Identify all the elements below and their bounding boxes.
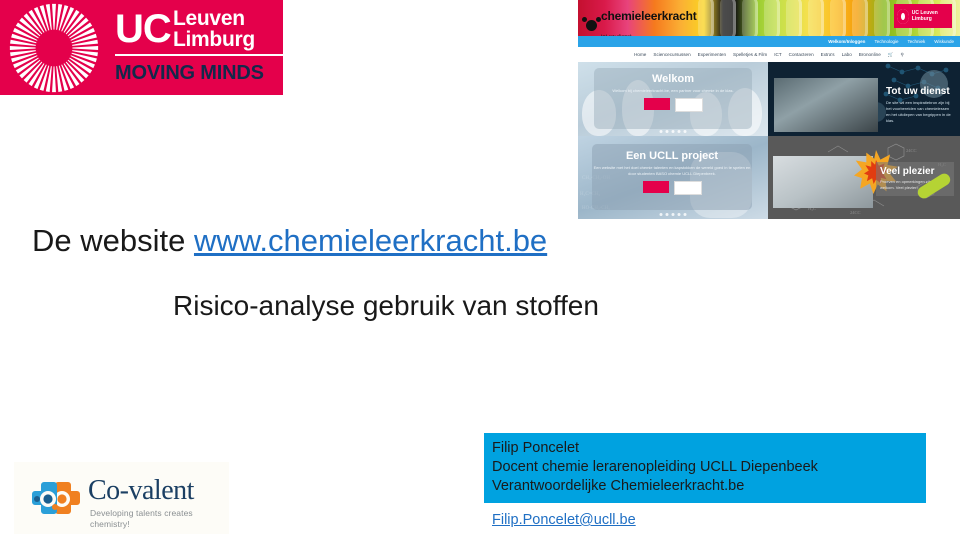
website-line: De website www.chemieleerkracht.be	[32, 221, 547, 261]
covalent-logo: Co-valent Developing talents creates che…	[14, 462, 229, 534]
ucll-line-leuven: Leuven	[173, 8, 255, 29]
ucll-mini-logo	[643, 181, 669, 193]
ucll-line-limburg: Limburg	[173, 29, 255, 50]
nav-item-sciencecursussen[interactable]: Sciencecursussen	[653, 51, 690, 59]
panel-project-title: Een UCLL project	[626, 150, 718, 162]
contact-role: Docent chemie lerarenopleiding UCLL Diep…	[492, 458, 918, 477]
panel-project-body: Een website met het doel chemie talenten…	[592, 165, 752, 177]
site-banner: chemieleerkracht tot uw dienst UC Leuven…	[578, 0, 960, 36]
ucll-tagline: MOVING MINDS	[115, 62, 264, 85]
partner-mini-logo	[674, 181, 702, 195]
nav-item-ict[interactable]: ICT	[774, 51, 781, 59]
site-panel-welkom: Welkom Welkom bij chemieleerkracht.be, e…	[578, 62, 768, 136]
chemieleerkracht-link[interactable]: www.chemieleerkracht.be	[194, 223, 547, 258]
panel-plezier-title: Veel plezier	[880, 166, 934, 177]
site-utility-links: Welkom/Inloggen Technologie Techniek Wis…	[828, 38, 954, 45]
panel-project-card: Een UCLL project Een website met het doe…	[592, 144, 752, 210]
ucll-wordmark: UC Leuven Limburg MOVING MINDS	[115, 6, 283, 92]
subject-line: Risico-analyse gebruik van stoffen	[173, 287, 599, 325]
badge-sunburst-icon	[897, 9, 909, 24]
ucll-divider	[115, 54, 283, 56]
ucll-uc-text: UC	[115, 8, 171, 50]
website-screenshot-image: chemieleerkracht tot uw dienst UC Leuven…	[578, 0, 960, 219]
nav-item-extras[interactable]: Extra's	[821, 51, 835, 59]
partner-mini-logo	[675, 98, 703, 112]
badge-label: UC Leuven Limburg	[912, 10, 949, 22]
panel-welkom-body: Welkom bij chemieleerkracht.be, een part…	[612, 88, 733, 94]
nav-item-experimenten[interactable]: Experimenten	[698, 51, 726, 59]
nav-item-brononline[interactable]: Brononline	[859, 51, 881, 59]
site-panel-ucll-project: CH₃-CH₂-OH H₂C=CH₂ HO-CH₂-CH₃ Een UCLL p…	[578, 136, 768, 219]
ucll-logo: UC Leuven Limburg MOVING MINDS	[0, 0, 283, 95]
covalent-molecule-icon	[28, 476, 84, 522]
site-panel-tot-uw-dienst: Tot uw dienst De site wil een inspiratie…	[768, 62, 960, 136]
nav-item-labo[interactable]: Labo	[842, 51, 852, 59]
panel-dienst-photo	[774, 78, 878, 132]
cart-icon[interactable]: 🛒	[888, 51, 894, 59]
nav-item-contacteren[interactable]: Contacteren	[789, 51, 814, 59]
svg-text:24CC: 24CC	[906, 148, 917, 153]
panel-carousel-dots[interactable]	[660, 130, 687, 133]
contact-responsibility: Verantwoordelijke Chemieleerkracht.be	[492, 477, 918, 496]
utility-link-1[interactable]: Technologie	[874, 38, 898, 45]
panel-plezier-photo	[773, 156, 873, 208]
panel-project-logos	[643, 181, 702, 195]
website-prefix-text: De website	[32, 223, 194, 258]
nav-item-spelletjes-film[interactable]: Spelletjes & Film	[733, 51, 767, 59]
utility-link-0[interactable]: Welkom/Inloggen	[828, 38, 865, 45]
site-navbar: Home Sciencecursussen Experimenten Spell…	[578, 47, 960, 62]
panel-dienst-title: Tot uw dienst	[886, 86, 950, 97]
contact-name: Filip Poncelet	[492, 439, 918, 458]
ucll-mini-logo	[644, 98, 670, 110]
site-logo: chemieleerkracht tot uw dienst	[586, 7, 697, 36]
covalent-wordmark: Co-valent	[88, 476, 194, 506]
nav-item-home[interactable]: Home	[634, 51, 646, 59]
panel-welkom-card: Welkom Welkom bij chemieleerkracht.be, e…	[594, 68, 752, 129]
utility-link-3[interactable]: Wiskunde	[934, 38, 954, 45]
utility-link-2[interactable]: Techniek	[907, 38, 925, 45]
radial-sunburst-icon	[8, 2, 100, 94]
ucll-name-lines: Leuven Limburg	[173, 8, 255, 50]
panel-welkom-title: Welkom	[652, 73, 694, 85]
molecule-icon	[586, 20, 597, 31]
site-utility-bar: Welkom/Inloggen Technologie Techniek Wis…	[578, 36, 960, 47]
site-ucll-badge: UC Leuven Limburg	[894, 4, 952, 28]
svg-text:24CC: 24CC	[850, 210, 861, 215]
search-icon[interactable]: ⚲	[901, 51, 904, 59]
site-title: chemieleerkracht	[601, 9, 697, 23]
contact-info-box: Filip Poncelet Docent chemie lerarenople…	[484, 433, 926, 503]
covalent-tagline: Developing talents creates chemistry!	[90, 508, 229, 530]
panel-dienst-body: De site wil een inspiratiebron zijn bij …	[886, 100, 954, 124]
contact-email-link[interactable]: Filip.Poncelet@ucll.be	[492, 511, 636, 530]
panel-carousel-dots[interactable]	[660, 213, 687, 216]
site-panel-veel-plezier: CH₃ 24CC H₂C H₃C 24CC Veel plezier Proev…	[768, 136, 960, 219]
panel-welkom-logos	[644, 98, 703, 112]
